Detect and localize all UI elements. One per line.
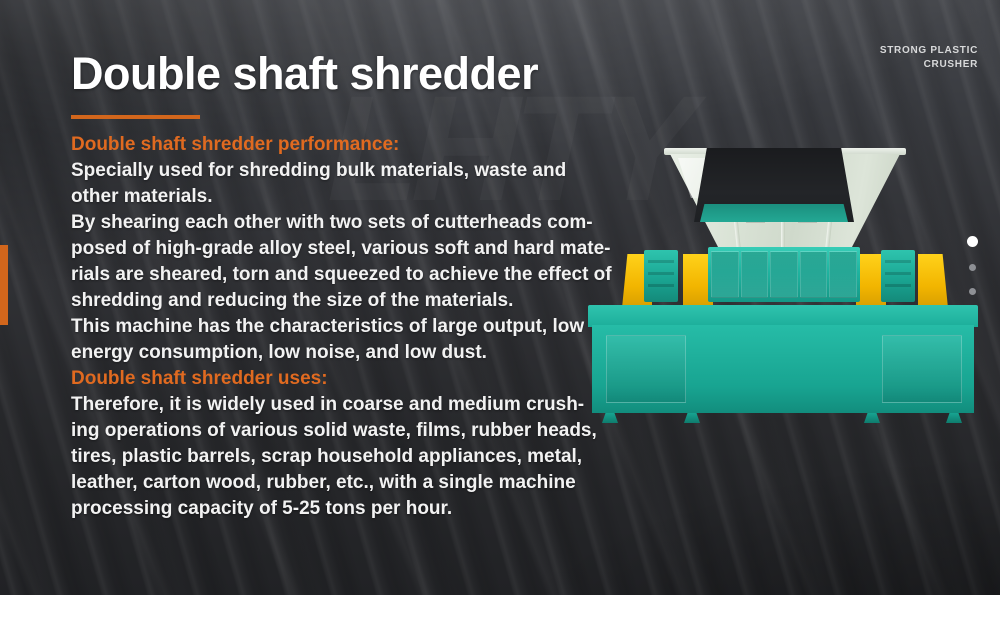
machine-base-frame <box>592 325 974 413</box>
brand-label: STRONG PLASTIC CRUSHER <box>880 44 978 72</box>
section-heading: Double shaft shredder performance: <box>71 132 571 158</box>
carousel-dot-1[interactable] <box>967 236 978 247</box>
page-title: Double shaft shredder <box>71 47 571 101</box>
body-line: leather, carton wood, rubber, etc., with… <box>71 470 571 496</box>
yellow-guard <box>918 254 948 308</box>
bearing-block <box>881 250 915 302</box>
body-line: shredding and reducing the size of the m… <box>71 288 571 314</box>
body-line: other materials. <box>71 184 571 210</box>
cutter-cell <box>770 251 798 298</box>
machine-foot <box>684 413 700 423</box>
product-image-shredder <box>588 142 978 427</box>
prev-slide-arrow[interactable] <box>0 245 8 325</box>
machine-foot <box>602 413 618 423</box>
page-body-below-banner <box>0 595 1000 618</box>
cutter-cell <box>711 251 739 298</box>
machine-deck <box>588 305 978 327</box>
carousel-dot-2[interactable] <box>969 264 976 271</box>
hero-banner: LHTY STRONG PLASTIC CRUSHER Double shaft… <box>0 0 1000 595</box>
body-line: This machine has the characteristics of … <box>71 314 571 340</box>
body-line: Therefore, it is widely used in coarse a… <box>71 392 571 418</box>
section-uses: Double shaft shredder uses: Therefore, i… <box>71 366 571 522</box>
base-panel <box>606 335 686 403</box>
cutter-cell <box>800 251 828 298</box>
cutter-cell <box>829 251 857 298</box>
machine-cutter-row <box>598 250 968 308</box>
bearing-block <box>644 250 678 302</box>
body-line: ing operations of various solid waste, f… <box>71 418 571 444</box>
body-line: processing capacity of 5-25 tons per hou… <box>71 496 571 522</box>
carousel-dot-3[interactable] <box>969 288 976 295</box>
carousel-dots <box>967 236 978 295</box>
body-line: Specially used for shredding bulk materi… <box>71 158 571 184</box>
base-opening-floor <box>700 204 848 222</box>
title-underline <box>71 115 200 119</box>
machine-foot <box>946 413 962 423</box>
brand-line-2: CRUSHER <box>880 58 978 72</box>
cutter-chamber <box>708 247 860 302</box>
cutter-cell <box>741 251 769 298</box>
brand-line-1: STRONG PLASTIC <box>880 44 978 58</box>
base-panel <box>882 335 962 403</box>
section-heading: Double shaft shredder uses: <box>71 366 571 392</box>
machine-foot <box>864 413 880 423</box>
body-line: posed of high-grade alloy steel, various… <box>71 236 571 262</box>
body-line: tires, plastic barrels, scrap household … <box>71 444 571 470</box>
body-line: By shearing each other with two sets of … <box>71 210 571 236</box>
body-line: energy consumption, low noise, and low d… <box>71 340 571 366</box>
body-line: rials are sheared, torn and squeezed to … <box>71 262 571 288</box>
hero-text-column: Double shaft shredder Double shaft shred… <box>71 47 571 522</box>
section-performance: Double shaft shredder performance: Speci… <box>71 132 571 366</box>
